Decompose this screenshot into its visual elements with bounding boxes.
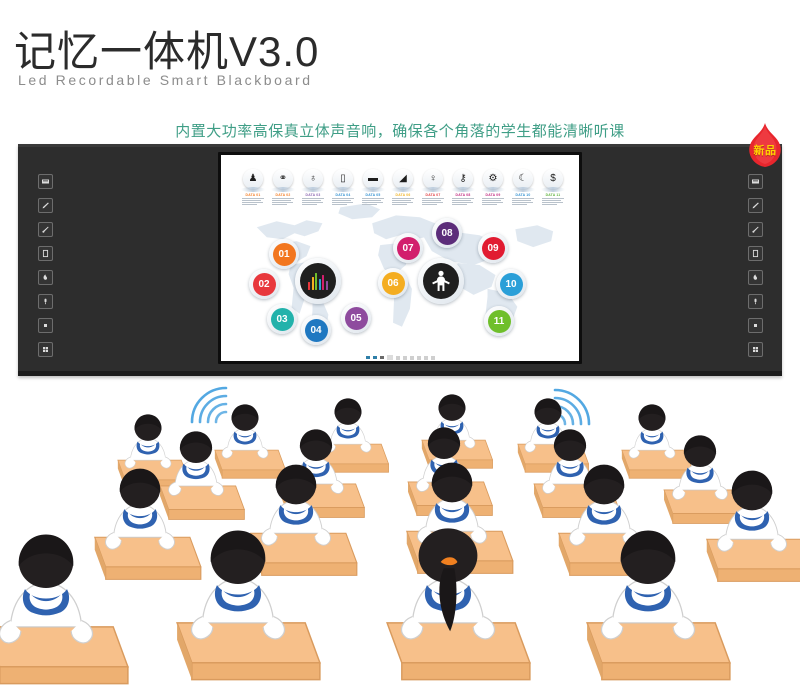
placeholder-text-lines (332, 198, 354, 206)
numbered-circle-label: 10 (500, 273, 523, 296)
data-strip-item[interactable]: ☾DATA 10 (509, 169, 537, 206)
placeholder-text-lines (542, 198, 564, 206)
page-icon[interactable] (38, 246, 53, 261)
player-control-bar[interactable] (221, 355, 579, 360)
moon-icon[interactable]: ☾ (513, 169, 533, 189)
key-icon[interactable]: ⚷ (453, 169, 473, 189)
data-strip-item[interactable]: ▯DATA 04 (329, 169, 357, 206)
numbered-circle-label: 05 (345, 307, 368, 330)
display-bezel: ♟DATA 01⚭DATA 02♁DATA 03▯DATA 04▬DATA 05… (218, 152, 582, 364)
classroom-illustration (0, 376, 800, 700)
port-square (396, 356, 400, 360)
bubble-shadow (391, 187, 415, 192)
left-control-rail[interactable] (34, 174, 56, 357)
data-strip-item[interactable]: $DATA 11 (539, 169, 567, 206)
bubble-shadow (331, 187, 355, 192)
numbered-circle-label: 01 (273, 243, 296, 266)
page-subtitle: Led Recordable Smart Blackboard (18, 72, 313, 88)
data-strip-item[interactable]: ♀DATA 07 (419, 169, 447, 206)
data-strip-item[interactable]: ⚷DATA 08 (449, 169, 477, 206)
dollar-icon[interactable]: $ (543, 169, 563, 189)
status-chip (380, 356, 384, 359)
bubble-shadow (301, 187, 325, 192)
right-control-rail[interactable] (744, 174, 766, 357)
power-button[interactable] (387, 355, 393, 360)
data-strip-label: DATA 01 (246, 193, 261, 197)
feature-circle[interactable] (418, 258, 464, 304)
data-strip-label: DATA 09 (486, 193, 501, 197)
numbered-circle[interactable]: 07 (393, 233, 423, 263)
chart-icon[interactable]: ◢ (393, 169, 413, 189)
placeholder-text-lines (242, 198, 264, 206)
placeholder-text-lines (362, 198, 384, 206)
data-strip-label: DATA 04 (336, 193, 351, 197)
link-icon[interactable]: ⚭ (273, 169, 293, 189)
numbered-circle-label: 09 (482, 237, 505, 260)
data-strip-label: DATA 07 (426, 193, 441, 197)
smart-blackboard: ♟DATA 01⚭DATA 02♁DATA 03▯DATA 04▬DATA 05… (18, 144, 782, 376)
page-title: 记忆一体机V3.0 (14, 18, 319, 79)
numbered-circle[interactable]: 05 (341, 303, 371, 333)
numbered-circle[interactable]: 01 (269, 239, 299, 269)
numbered-circle[interactable]: 06 (378, 268, 408, 298)
power-icon[interactable] (748, 270, 763, 285)
marker-icon[interactable] (748, 222, 763, 237)
placeholder-text-lines (272, 198, 294, 206)
pen-icon[interactable] (38, 198, 53, 213)
numbered-circle[interactable]: 02 (249, 269, 279, 299)
mobile-icon[interactable]: ▯ (333, 169, 353, 189)
numbered-circle[interactable]: 11 (484, 306, 514, 336)
globe-icon[interactable]: ♁ (303, 169, 323, 189)
bubble-shadow (361, 187, 385, 192)
numbered-circle[interactable]: 10 (496, 269, 526, 299)
feature-tagline: 内置大功率高保真立体声音响，确保各个角落的学生都能清晰听课 (0, 120, 800, 141)
feature-circle[interactable] (295, 258, 341, 304)
data-strip-label: DATA 10 (516, 193, 531, 197)
numbered-circle[interactable]: 03 (267, 304, 297, 334)
numbered-circle-label: 06 (382, 272, 405, 295)
data-strip: ♟DATA 01⚭DATA 02♁DATA 03▯DATA 04▬DATA 05… (227, 169, 579, 206)
bubble-shadow (451, 187, 475, 192)
new-product-badge: 新品 (744, 122, 786, 174)
screen-icon[interactable] (38, 174, 53, 189)
bar-chart-icon (300, 263, 336, 299)
status-chip (373, 356, 377, 359)
numbered-circle-label: 02 (253, 273, 276, 296)
numbered-circle-label: 03 (271, 308, 294, 331)
data-strip-item[interactable]: ⚙DATA 09 (479, 169, 507, 206)
screen-icon[interactable] (748, 174, 763, 189)
numbered-circle[interactable]: 09 (478, 233, 508, 263)
pen-icon[interactable] (748, 198, 763, 213)
new-product-badge-label: 新品 (744, 142, 786, 158)
mic-icon[interactable] (38, 294, 53, 309)
bubble-shadow (541, 187, 565, 192)
port-square (417, 356, 421, 360)
power-icon[interactable] (38, 270, 53, 285)
data-strip-label: DATA 08 (456, 193, 471, 197)
numbered-circle-label: 08 (436, 222, 459, 245)
port-square (431, 356, 435, 360)
data-strip-label: DATA 02 (276, 193, 291, 197)
bubble-shadow (271, 187, 295, 192)
numbered-circle-cluster: 0102030405060708091011 (221, 211, 579, 361)
gear-icon[interactable]: ⚙ (483, 169, 503, 189)
person-icon (423, 263, 459, 299)
placeholder-text-lines (452, 198, 474, 206)
board-top-edge (18, 144, 782, 147)
data-strip-label: DATA 11 (546, 193, 561, 197)
display-screen[interactable]: ♟DATA 01⚭DATA 02♁DATA 03▯DATA 04▬DATA 05… (221, 155, 579, 361)
numbered-circle-label: 04 (305, 319, 328, 342)
numbered-circle[interactable]: 08 (432, 218, 462, 248)
data-strip-label: DATA 06 (396, 193, 411, 197)
bubble-shadow (421, 187, 445, 192)
bubble-shadow (241, 187, 265, 192)
grid-icon[interactable] (38, 342, 53, 357)
data-strip-item[interactable]: ⚭DATA 02 (269, 169, 297, 206)
grid-icon[interactable] (748, 342, 763, 357)
port-square (403, 356, 407, 360)
data-strip-label: DATA 03 (306, 193, 321, 197)
port-square (424, 356, 428, 360)
stop-icon[interactable] (748, 318, 763, 333)
data-strip-item[interactable]: ♁DATA 03 (299, 169, 327, 206)
port-square (410, 356, 414, 360)
placeholder-text-lines (302, 198, 324, 206)
placeholder-text-lines (512, 198, 534, 206)
marker-icon[interactable] (38, 222, 53, 237)
numbered-circle[interactable]: 04 (301, 315, 331, 345)
bubble-shadow (481, 187, 505, 192)
stop-icon[interactable] (38, 318, 53, 333)
bulb-icon[interactable]: ♀ (423, 169, 443, 189)
data-strip-item[interactable]: ◢DATA 06 (389, 169, 417, 206)
status-chip (366, 356, 370, 359)
numbered-circle-label: 11 (488, 310, 511, 333)
data-strip-item[interactable]: ▬DATA 05 (359, 169, 387, 206)
bubble-shadow (511, 187, 535, 192)
user-tie-icon[interactable]: ♟ (243, 169, 263, 189)
numbered-circle-label: 07 (397, 237, 420, 260)
page-icon[interactable] (748, 246, 763, 261)
mic-icon[interactable] (748, 294, 763, 309)
header: 记忆一体机V3.0 Led Recordable Smart Blackboar… (0, 0, 800, 112)
data-strip-item[interactable]: ♟DATA 01 (239, 169, 267, 206)
placeholder-text-lines (482, 198, 504, 206)
placeholder-text-lines (422, 198, 444, 206)
placeholder-text-lines (392, 198, 414, 206)
briefcase-icon[interactable]: ▬ (363, 169, 383, 189)
data-strip-label: DATA 05 (366, 193, 381, 197)
